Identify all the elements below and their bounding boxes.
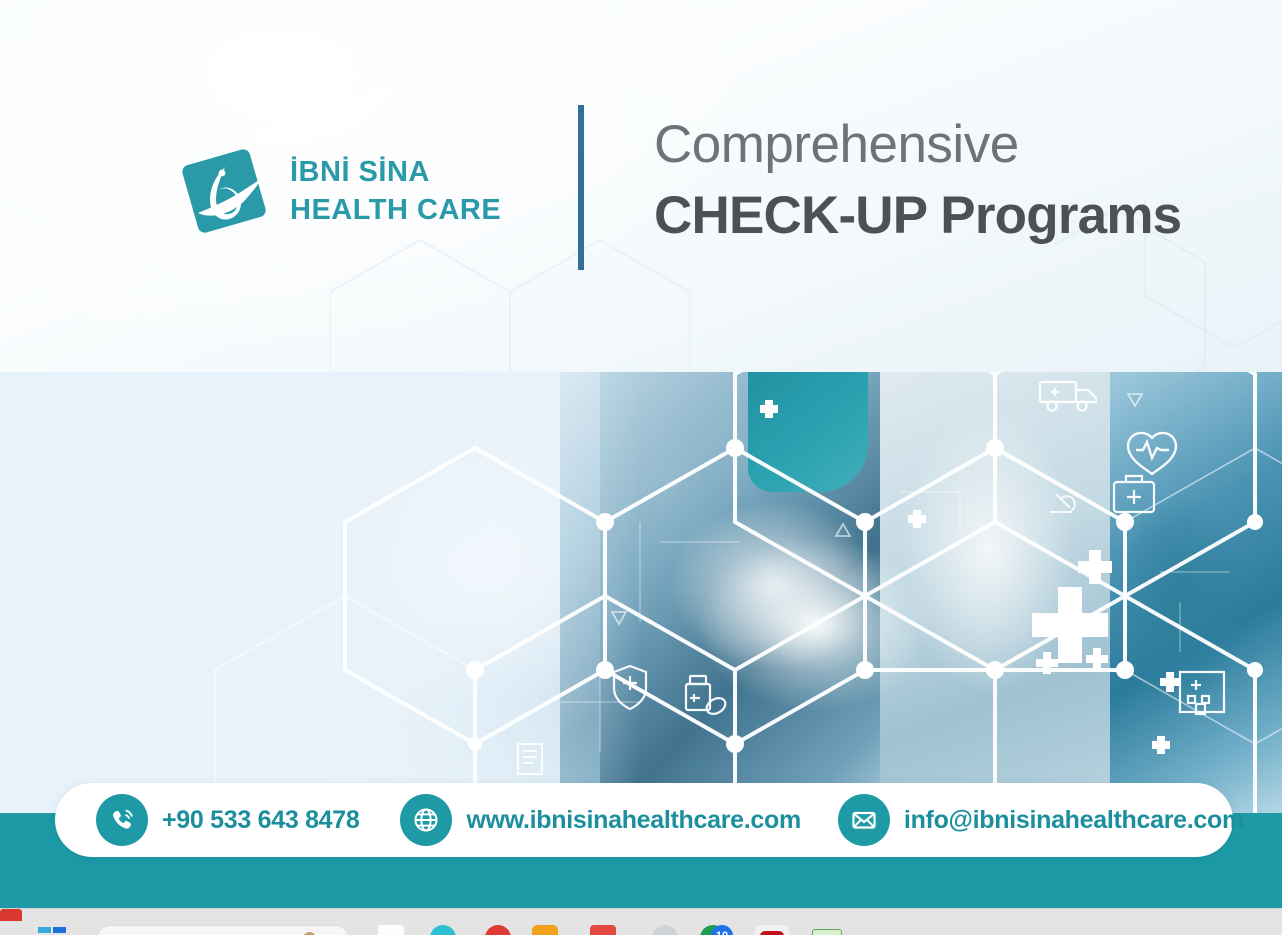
website-text: www.ibnisinahealthcare.com [466,806,800,835]
white-cross-icon-small-bottom [1036,652,1058,674]
white-cross-icon-mid [1160,672,1180,692]
vertical-divider [578,105,584,270]
window-icon[interactable] [378,925,404,935]
hexagon-watermark [330,230,690,372]
notification-badge: 10 [711,925,733,935]
windows-taskbar[interactable]: 10 [0,908,1282,935]
red-flat-app-icon[interactable] [590,925,616,935]
page-title: Comprehensive CHECK-UP Programs [654,118,1181,242]
white-cross-icon-small-top [1078,550,1112,584]
brand-name-line2: HEALTH CARE [290,196,501,225]
envelope-icon [838,794,890,846]
white-cross-icon-small-right [1086,648,1108,670]
white-cross-icon-topleft [760,400,778,418]
globe-icon [400,794,452,846]
brand-logo[interactable]: İBNİ SİNA HEALTH CARE [176,143,501,239]
title-line-2: CHECK-UP Programs [654,189,1181,242]
gray-app-icon[interactable] [652,925,678,935]
white-cross-icon-upper [908,510,926,528]
email-text: info@ibnisinahealthcare.com [904,806,1244,835]
contact-website[interactable]: www.ibnisinahealthcare.com [400,794,800,846]
youtube-icon-inner [760,931,784,935]
contact-bar: +90 533 643 8478 www.ibnisinahealthcare.… [55,783,1233,857]
brand-name-line1: İBNİ SİNA [290,158,501,187]
contact-phone[interactable]: +90 533 643 8478 [96,794,359,846]
contact-email[interactable]: info@ibnisinahealthcare.com [838,794,1244,846]
teal-app-icon[interactable] [430,925,456,935]
windows-start-icon[interactable] [38,927,66,935]
orange-app-icon[interactable] [532,925,558,935]
brand-wordmark: İBNİ SİNA HEALTH CARE [290,158,501,225]
note-app-icon[interactable] [812,929,842,935]
white-cross-icon-hospital [1152,736,1170,754]
taskbar-search-input[interactable] [98,926,348,935]
poster-screen: İBNİ SİNA HEALTH CARE Comprehensive CHEC… [0,0,1282,935]
title-line-1: Comprehensive [654,118,1181,171]
hero-teal-scrubs [748,372,868,492]
phone-icon [96,794,148,846]
gray-app-red-base[interactable] [0,909,22,921]
phone-number-text: +90 533 643 8478 [162,806,359,835]
header-banner: İBNİ SİNA HEALTH CARE Comprehensive CHEC… [0,0,1282,372]
ibni-sina-diamond-logo-icon [176,143,272,239]
red-app-icon[interactable] [485,925,511,935]
